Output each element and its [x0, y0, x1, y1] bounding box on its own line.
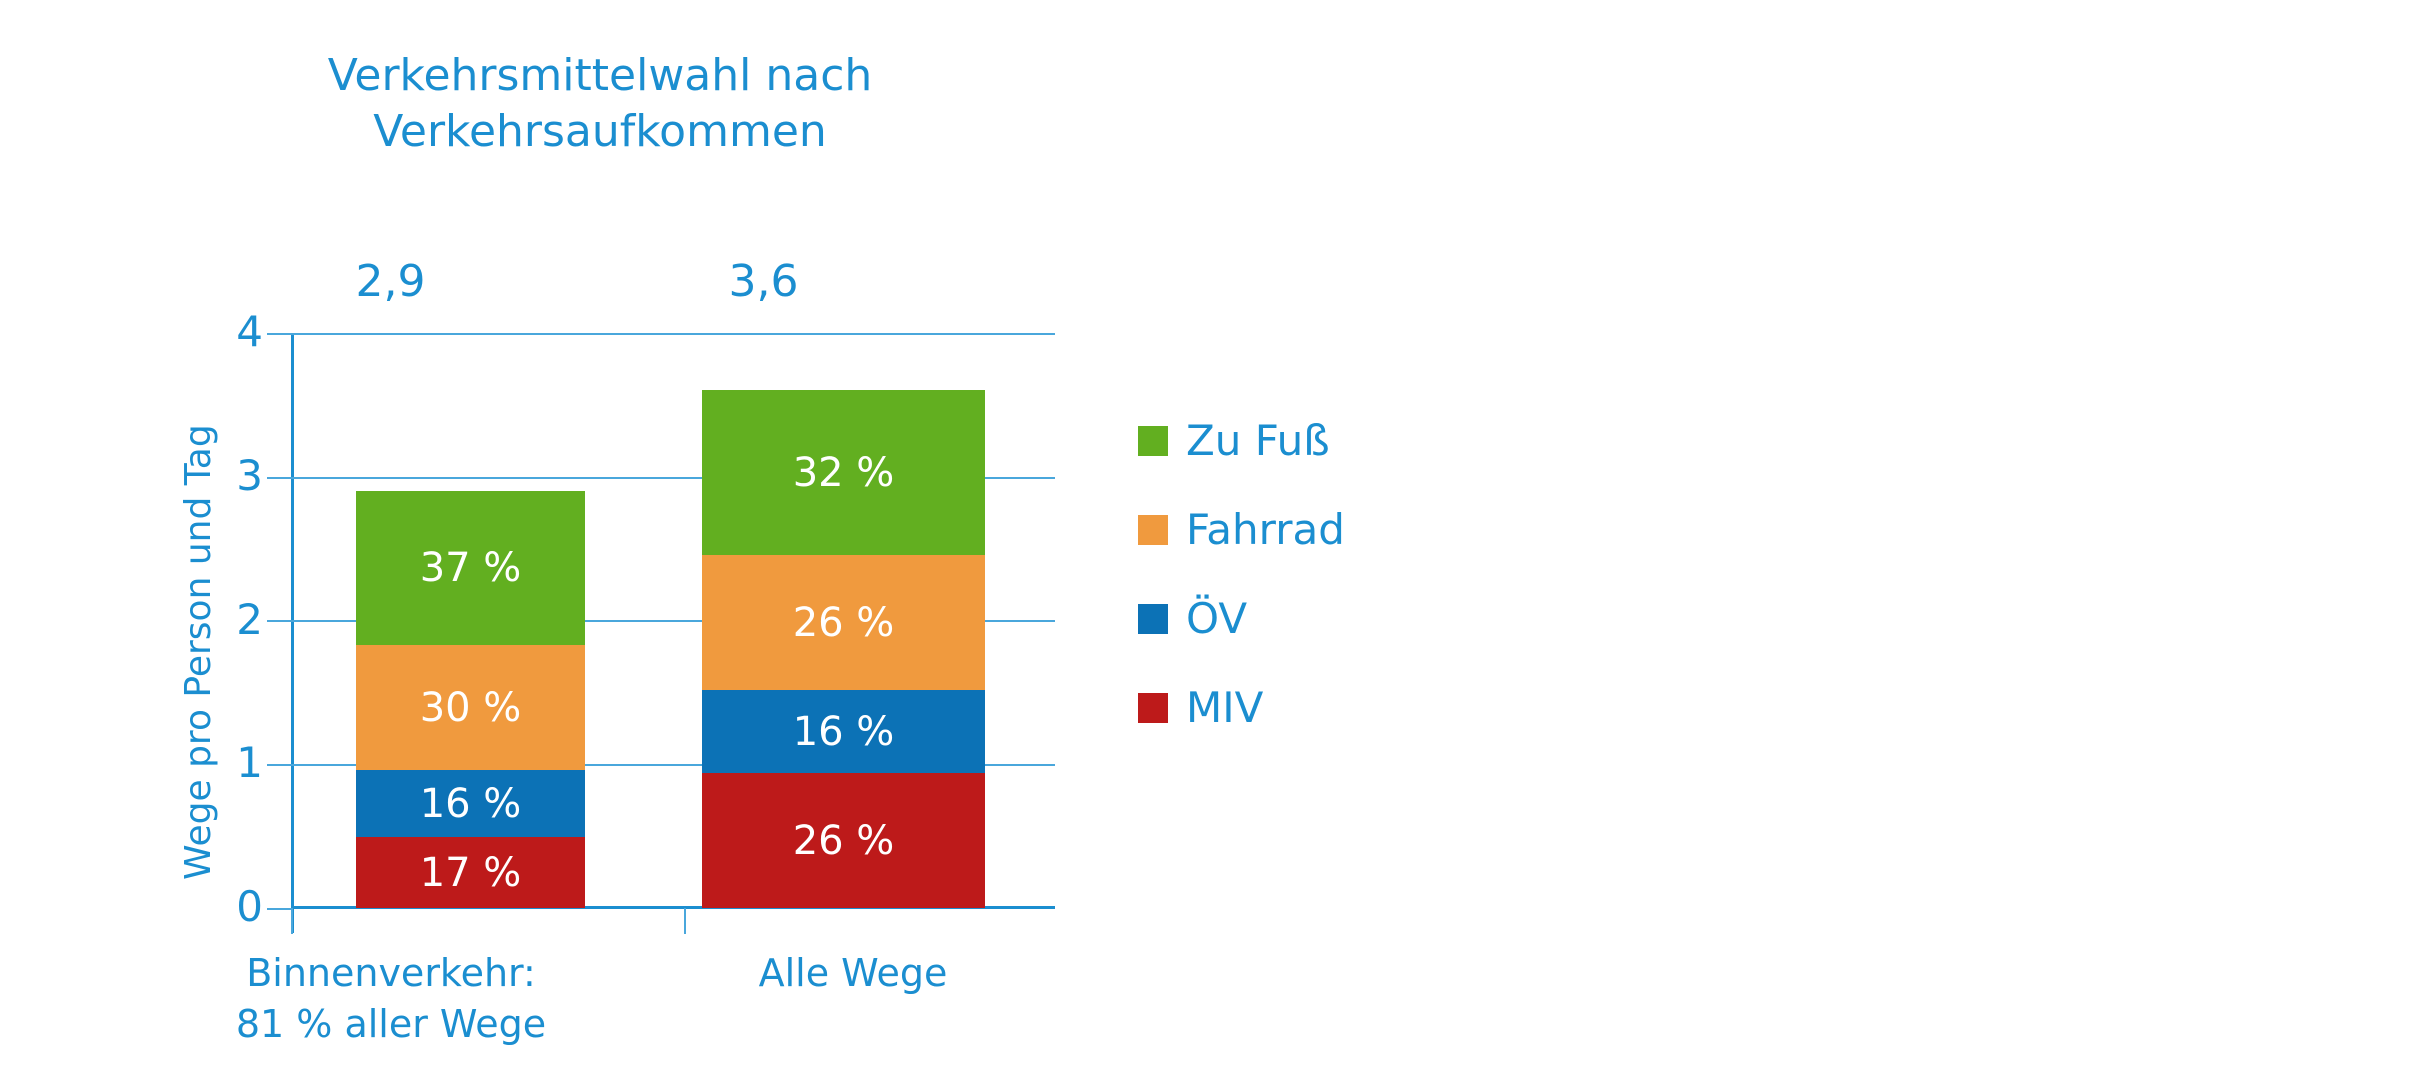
bar-segment-miv[interactable]: 17 %: [356, 837, 585, 908]
chart-canvas: Verkehrsmittelwahl nach Verkehrsaufkomme…: [0, 0, 2434, 1080]
bar-segment-miv[interactable]: 26 %: [702, 773, 985, 908]
gridline-left-4: [291, 333, 1055, 335]
stacked-bar-binnenverkehr[interactable]: 17 % 16 % 30 % 37 %: [356, 491, 585, 908]
x-category-label-alle-wege: Alle Wege: [678, 948, 1028, 999]
y-tick-mark-left-3: [267, 477, 293, 479]
x-category-label-binnenverkehr-line1: Binnenverkehr:: [216, 948, 566, 999]
x-tick-left-start: [291, 908, 293, 934]
stacked-bar-alle-wege[interactable]: 26 % 16 % 26 % 32 %: [702, 390, 985, 908]
y-tick-mark-left-0: [267, 908, 293, 910]
bar-segment-oev[interactable]: 16 %: [356, 770, 585, 837]
bar-segment-fahrrad[interactable]: 30 %: [356, 645, 585, 770]
legend-swatch-icon-miv: [1138, 693, 1168, 723]
bar-segment-label-miv: 17 %: [420, 853, 522, 893]
y-tick-label-left-2: 2: [205, 595, 263, 644]
bar-segment-label-miv: 26 %: [793, 821, 895, 861]
y-tick-label-left-3: 3: [205, 451, 263, 500]
chart-title-left-line1: Verkehrsmittelwahl nach: [230, 48, 970, 104]
y-tick-label-left-4: 4: [205, 307, 263, 356]
bar-segment-oev[interactable]: 16 %: [702, 690, 985, 773]
legend-swatch-icon-fahrrad: [1138, 515, 1168, 545]
plot-area-left: 17 % 16 % 30 % 37 % 26 %: [291, 333, 1055, 908]
bar-segment-fahrrad[interactable]: 26 %: [702, 555, 985, 690]
bar-segment-label-fahrrad: 30 %: [420, 688, 522, 728]
bar-segment-label-zu-fuss: 37 %: [420, 548, 522, 588]
x-category-label-alle-wege-line1: Alle Wege: [678, 948, 1028, 999]
chart-panel-verkehrsleistung: Verkehrsmittelwahl nach Verkehrsleistung…: [1280, 0, 2434, 1080]
bar-total-label-alle-wege: 3,6: [622, 256, 905, 307]
bar-segment-label-fahrrad: 26 %: [793, 603, 895, 643]
bar-total-label-binnenverkehr: 2,9: [276, 256, 505, 307]
y-tick-label-left-1: 1: [205, 738, 263, 787]
y-tick-mark-left-1: [267, 764, 293, 766]
bar-segment-zu-fuss[interactable]: 32 %: [702, 390, 985, 555]
y-tick-mark-left-4: [267, 333, 293, 335]
y-tick-mark-left-2: [267, 620, 293, 622]
bar-segment-label-oev: 16 %: [420, 784, 522, 824]
bar-segment-zu-fuss[interactable]: 37 %: [356, 491, 585, 645]
chart-title-left: Verkehrsmittelwahl nach Verkehrsaufkomme…: [230, 48, 970, 161]
legend-swatch-icon-zu-fuss: [1138, 426, 1168, 456]
chart-title-left-line2: Verkehrsaufkommen: [230, 104, 970, 160]
legend-label-miv: MIV: [1186, 687, 1263, 729]
x-category-label-binnenverkehr-line2: 81 % aller Wege: [216, 999, 566, 1050]
chart-panel-verkehrsaufkommen: Verkehrsmittelwahl nach Verkehrsaufkomme…: [0, 0, 1200, 1080]
legend-label-oev: ÖV: [1186, 598, 1247, 640]
bar-segment-label-oev: 16 %: [793, 712, 895, 752]
bar-segment-label-zu-fuss: 32 %: [793, 453, 895, 493]
x-tick-left-mid: [684, 908, 686, 934]
y-tick-label-left-0: 0: [205, 882, 263, 931]
legend-swatch-icon-oev: [1138, 604, 1168, 634]
x-category-label-binnenverkehr: Binnenverkehr: 81 % aller Wege: [216, 948, 566, 1051]
